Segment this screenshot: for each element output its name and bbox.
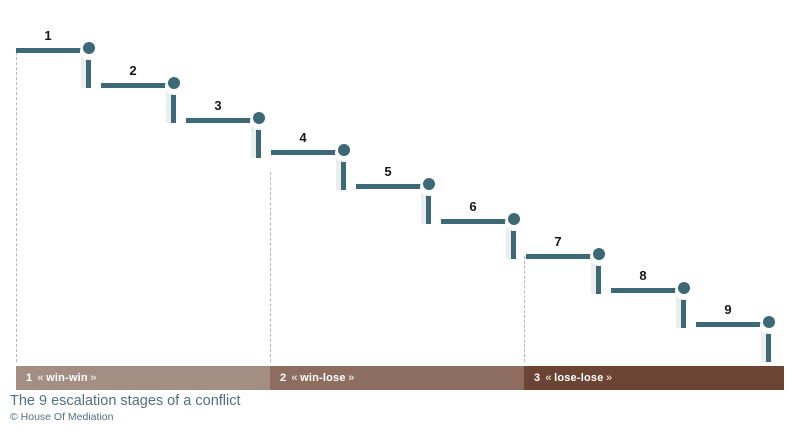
phase-band-quote-open: « — [291, 372, 300, 384]
phase-divider-line — [524, 256, 525, 362]
phase-band-label: lose-lose — [554, 372, 604, 384]
step-marker-dot — [168, 77, 180, 89]
phase-band-label: win-win — [46, 372, 88, 384]
phase-band-quote-close: » — [88, 372, 97, 384]
step-marker-dot — [763, 316, 775, 328]
step-marker-dot — [423, 178, 435, 190]
step-number-label: 1 — [38, 29, 58, 42]
step-number-label: 2 — [123, 64, 143, 77]
phase-band-label: win-lose — [300, 372, 346, 384]
phase-band: 3« lose-lose » — [524, 366, 784, 390]
phase-band-quote-open: « — [37, 372, 46, 384]
phase-divider-line — [270, 172, 271, 362]
escalation-staircase-diagram: 123456789 1« win-win »2« win-lose »3« lo… — [0, 0, 800, 448]
step-number-label: 7 — [548, 235, 568, 248]
step-number-label: 3 — [208, 99, 228, 112]
phase-band-number: 3 — [534, 372, 540, 384]
page-title: The 9 escalation stages of a conflict — [10, 392, 241, 410]
step-number-label: 9 — [718, 303, 738, 316]
phase-divider-line — [16, 52, 17, 362]
step-number-label: 6 — [463, 200, 483, 213]
step-number-label: 5 — [378, 165, 398, 178]
step-marker-dot — [678, 282, 690, 294]
step-marker-dot — [593, 248, 605, 260]
phase-band-number: 2 — [280, 372, 286, 384]
step-number-label: 4 — [293, 131, 313, 144]
step-number-label: 8 — [633, 269, 653, 282]
phase-band-number: 1 — [26, 372, 32, 384]
credit-line: © House Of Mediation — [10, 411, 241, 425]
step-marker-dot — [83, 42, 95, 54]
phase-band-quote-close: » — [604, 372, 613, 384]
step-marker-dot — [338, 144, 350, 156]
caption: The 9 escalation stages of a conflict © … — [10, 392, 241, 425]
step-marker-dot — [253, 112, 265, 124]
phase-band-quote-close: » — [346, 372, 355, 384]
phase-band: 2« win-lose » — [270, 366, 524, 390]
step-marker-dot — [508, 213, 520, 225]
phase-band: 1« win-win » — [16, 366, 270, 390]
phase-band-quote-open: « — [545, 372, 554, 384]
